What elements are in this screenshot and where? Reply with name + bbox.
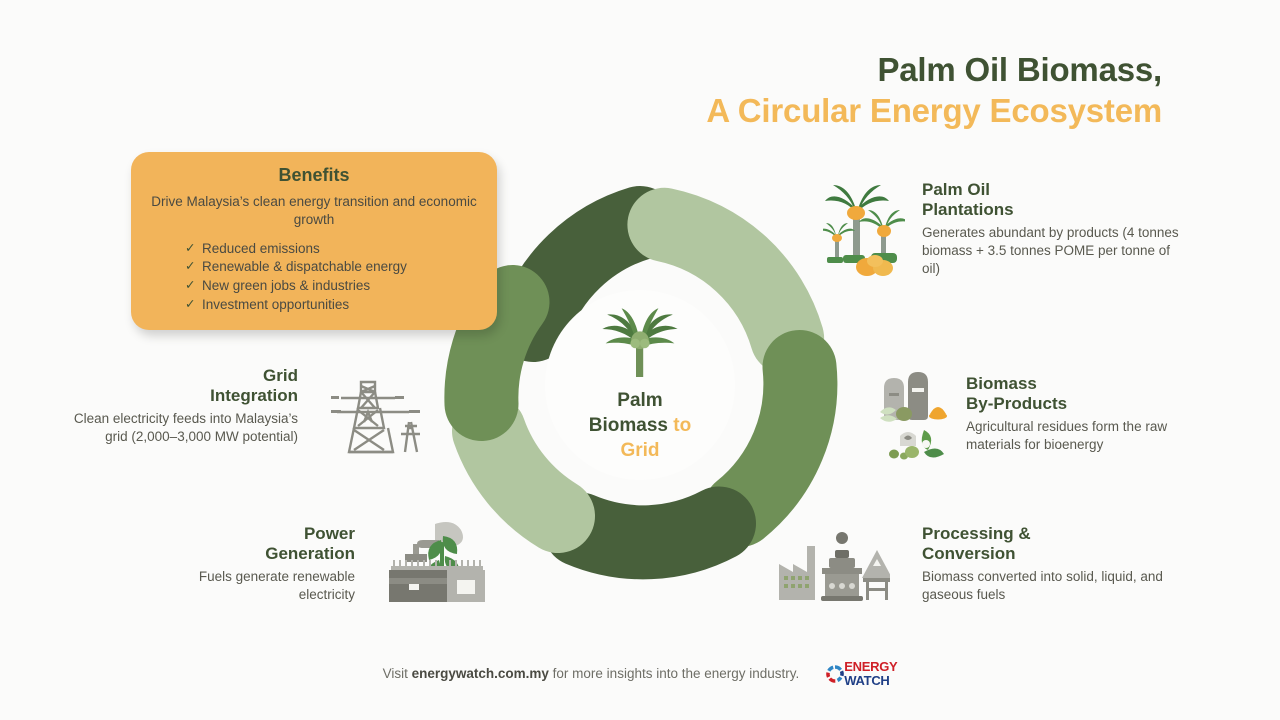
node-heading-line-1: Processing &	[922, 524, 1182, 544]
node-heading-line-2: Plantations	[922, 200, 1182, 220]
bioenergy-plant-icon	[387, 520, 487, 604]
footer-text: Visit energywatch.com.my for more insigh…	[383, 666, 800, 681]
node-description: Fuels generate renewable electricity	[150, 568, 355, 604]
biomass-byproducts-icon	[878, 366, 960, 464]
node-biomass-by-products: Biomass By-Products Agricultural residue…	[966, 374, 1181, 454]
node-palm-oil-plantations: Palm Oil Plantations Generates abundant …	[922, 180, 1182, 278]
benefit-item: ✓ Renewable & dispatchable energy	[185, 258, 477, 277]
benefit-item-label: Renewable & dispatchable energy	[202, 259, 407, 274]
cycle-center-label: Palm Biomass to Grid	[545, 290, 735, 480]
benefit-item: ✓ Investment opportunities	[185, 296, 477, 315]
benefits-subtitle: Drive Malaysia’s clean energy transition…	[151, 193, 477, 229]
footer-site-link[interactable]: energywatch.com.my	[412, 666, 549, 681]
node-grid-integration: Grid Integration Clean electricity feeds…	[62, 366, 298, 446]
logo-word-watch: WATCH	[844, 674, 897, 687]
benefit-item: ✓ New green jobs & industries	[185, 277, 477, 296]
check-icon: ✓	[185, 240, 195, 257]
benefit-item: ✓ Reduced emissions	[185, 240, 477, 259]
title-line-1: Palm Oil Biomass,	[0, 52, 1162, 89]
benefit-item-label: Reduced emissions	[202, 241, 320, 256]
factory-icon	[777, 526, 890, 602]
node-processing-conversion: Processing & Conversion Biomass converte…	[922, 524, 1182, 604]
page-title: Palm Oil Biomass, A Circular Energy Ecos…	[0, 52, 1162, 130]
logo-word-energy: ENERGY	[844, 660, 897, 673]
node-heading-line-1: Grid	[62, 366, 298, 386]
center-line-2-accent: to	[673, 415, 691, 436]
palm-tree-icon	[596, 308, 684, 382]
cycle-center-text: Palm Biomass to Grid	[589, 388, 691, 463]
node-description: Generates abundant by products (4 tonnes…	[922, 224, 1182, 278]
benefit-item-label: Investment opportunities	[202, 297, 349, 312]
benefits-heading: Benefits	[151, 165, 477, 186]
node-heading-line-2: Generation	[150, 544, 355, 564]
check-icon: ✓	[185, 277, 195, 294]
footer-text-after: for more insights into the energy indust…	[549, 666, 799, 681]
footer-text-before: Visit	[383, 666, 412, 681]
benefits-callout: Benefits Drive Malaysia’s clean energy t…	[131, 152, 497, 330]
cycle-segment-dark-bottom	[580, 524, 719, 543]
check-icon: ✓	[185, 296, 195, 313]
energywatch-logo[interactable]: ENERGY WATCH	[825, 660, 897, 687]
benefit-item-label: New green jobs & industries	[202, 278, 370, 293]
node-heading-line-2: By-Products	[966, 394, 1181, 414]
palm-plantation-icon	[823, 177, 905, 277]
node-heading-line-2: Conversion	[922, 544, 1182, 564]
node-description: Biomass converted into solid, liquid, an…	[922, 568, 1182, 604]
node-heading-line-1: Power	[150, 524, 355, 544]
node-heading-line-2: Integration	[62, 386, 298, 406]
cycle-segment-mid-right	[740, 367, 800, 510]
transmission-tower-icon	[327, 368, 420, 458]
center-line-3-accent: Grid	[620, 440, 659, 461]
title-line-2: A Circular Energy Ecosystem	[0, 93, 1162, 130]
center-line-2-main: Biomass	[589, 415, 673, 436]
energywatch-logo-icon	[825, 664, 845, 684]
node-power-generation: Power Generation Fuels generate renewabl…	[150, 524, 355, 604]
footer: Visit energywatch.com.my for more insigh…	[0, 660, 1280, 687]
cycle-segment-sage-bottom	[489, 431, 558, 516]
node-heading-line-1: Palm Oil	[922, 180, 1182, 200]
benefits-list: ✓ Reduced emissions ✓ Renewable & dispat…	[151, 240, 477, 315]
node-heading-line-1: Biomass	[966, 374, 1181, 394]
node-description: Clean electricity feeds into Malaysia’s …	[62, 410, 298, 446]
node-description: Agricultural residues form the raw mater…	[966, 418, 1181, 454]
check-icon: ✓	[185, 258, 195, 275]
center-line-1: Palm	[617, 390, 662, 411]
infographic-canvas: Palm Oil Biomass, A Circular Energy Ecos…	[0, 0, 1280, 720]
